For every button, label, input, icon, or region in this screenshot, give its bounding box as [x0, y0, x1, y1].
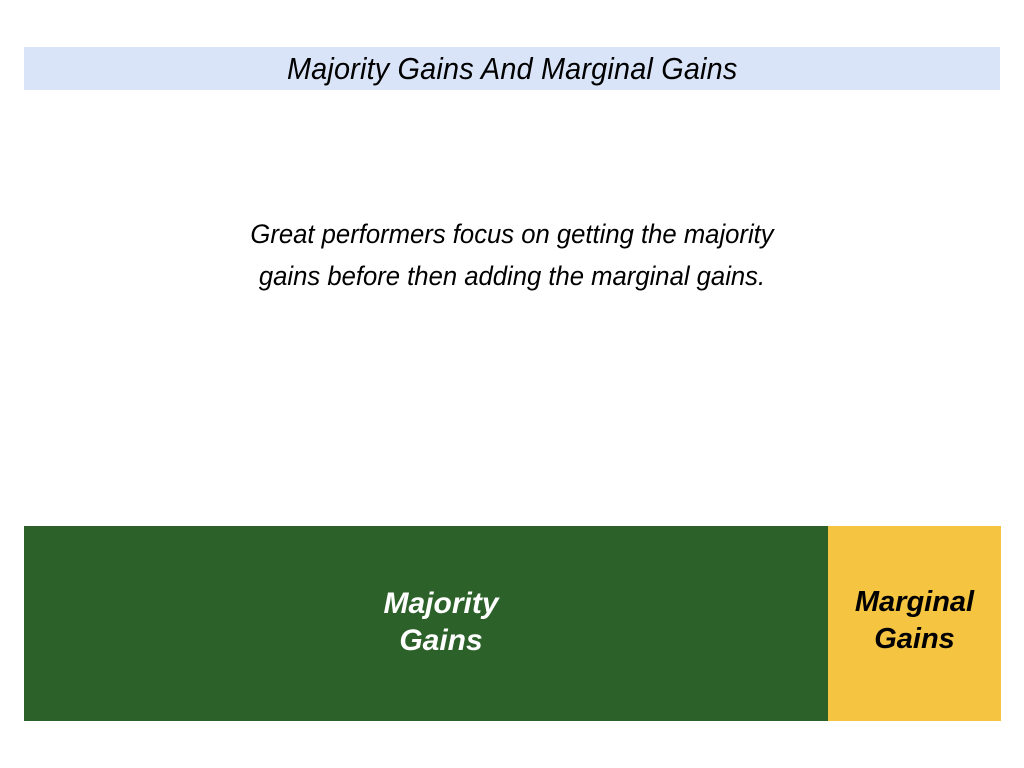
- bar-segment-majority-gains: Majority Gains: [24, 526, 828, 721]
- bar-segment-marginal-gains: Marginal Gains: [828, 526, 1001, 721]
- slide-canvas: Majority Gains And Marginal Gains Great …: [0, 0, 1024, 768]
- body-line-2: gains before then adding the marginal ga…: [26, 255, 999, 297]
- slide-body-text: Great performers focus on getting the ma…: [0, 213, 1024, 297]
- body-line-1: Great performers focus on getting the ma…: [26, 213, 999, 255]
- marginal-gains-label-line-2: Gains: [874, 621, 955, 658]
- slide-title-text: Majority Gains And Marginal Gains: [287, 53, 738, 84]
- majority-gains-label-line-2: Gains: [399, 622, 482, 659]
- gains-proportion-bar: Majority Gains Marginal Gains: [24, 526, 1001, 721]
- marginal-gains-label-line-1: Marginal: [855, 584, 974, 621]
- slide-title-banner: Majority Gains And Marginal Gains: [24, 47, 1000, 90]
- majority-gains-label-line-1: Majority: [383, 585, 498, 622]
